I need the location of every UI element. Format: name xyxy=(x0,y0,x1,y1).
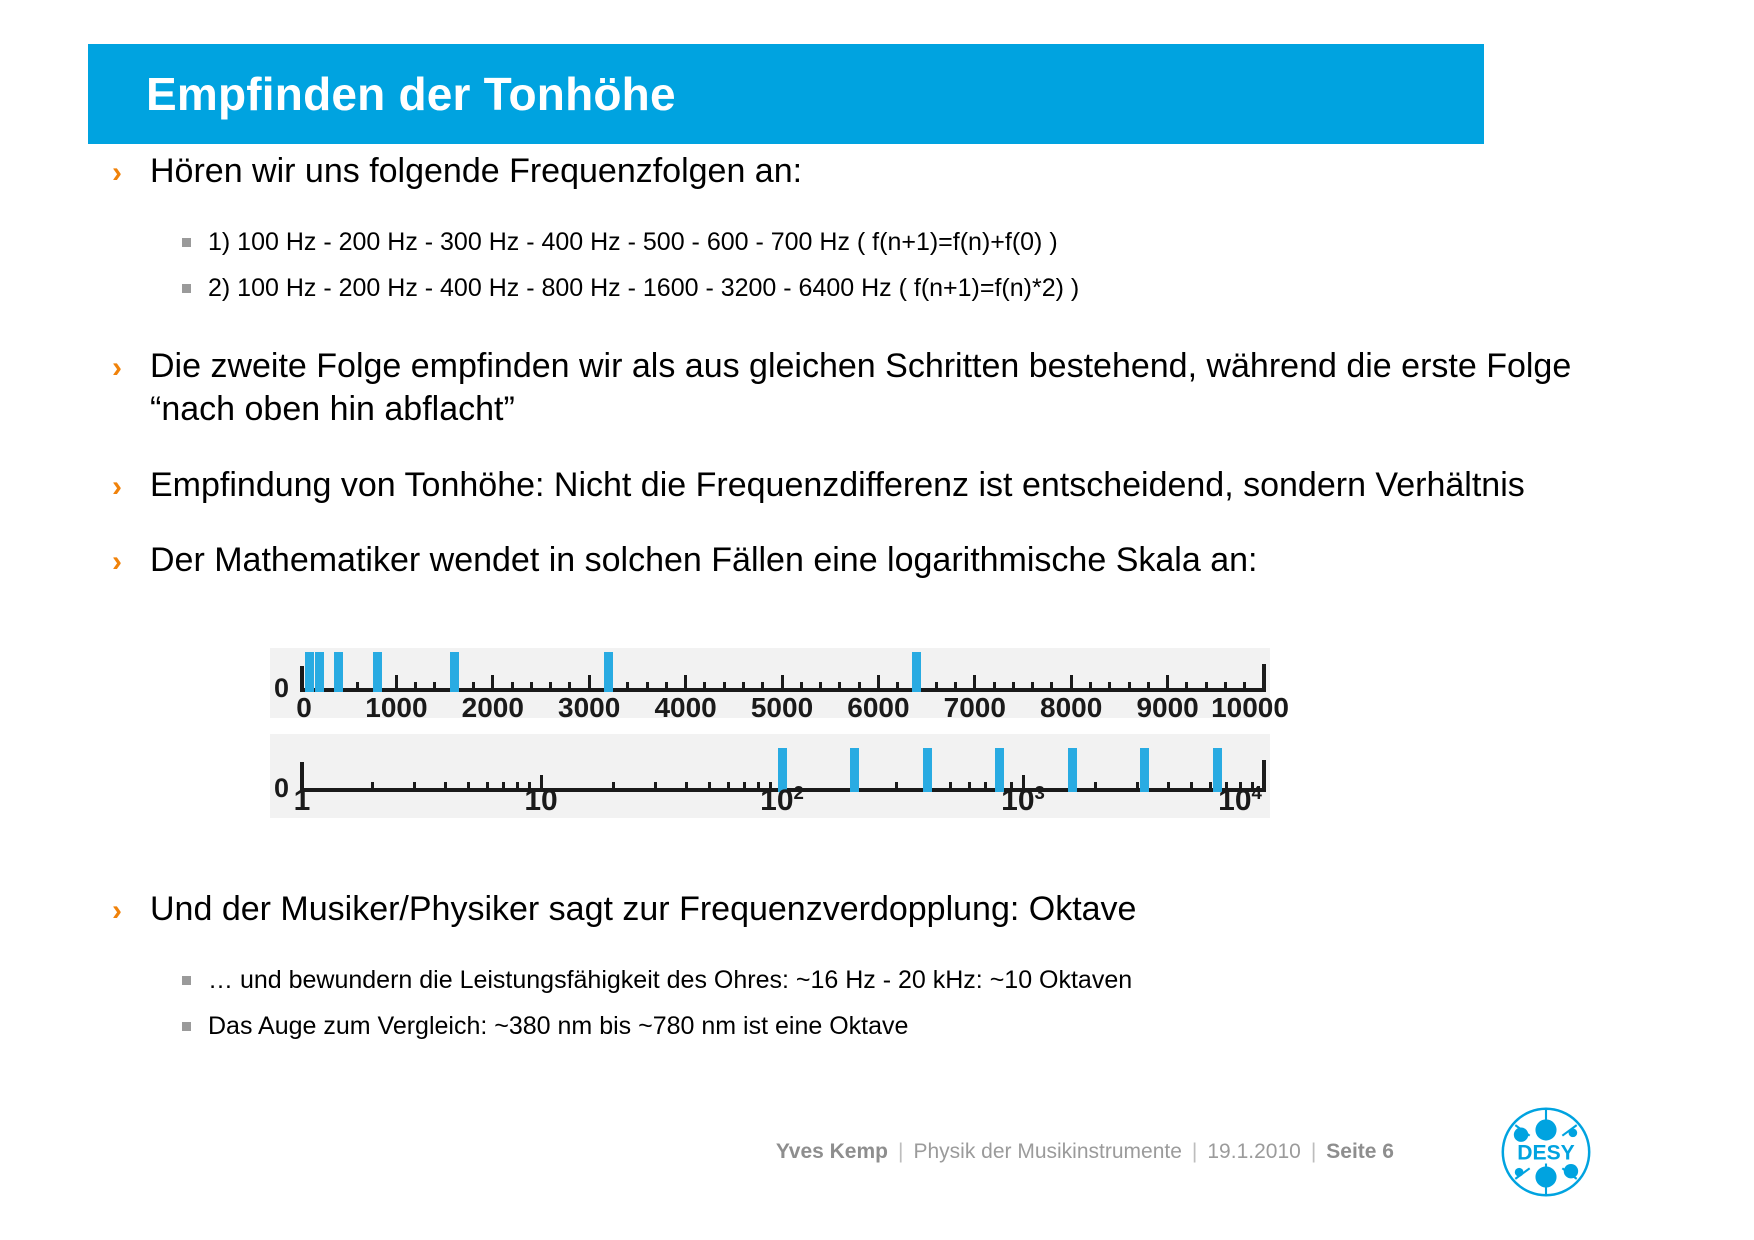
axis-tick-minor xyxy=(935,682,938,692)
spacer xyxy=(0,521,1754,539)
frequency-scale-figures: 0 01000200030004000500060007000800090001… xyxy=(270,648,1270,834)
axis-tick-major xyxy=(781,675,784,692)
frequency-bar xyxy=(334,652,343,692)
square-bullet-icon xyxy=(182,238,191,247)
axis-tick-minor xyxy=(516,782,519,792)
axis-tick-minor xyxy=(984,782,987,792)
axis-tick-minor xyxy=(1167,782,1170,792)
bullet-text: 1) 100 Hz - 200 Hz - 300 Hz - 400 Hz - 5… xyxy=(208,228,1058,256)
axis-tick-minor xyxy=(444,782,447,792)
axis-cap-right xyxy=(1262,664,1266,692)
axis-tick-minor xyxy=(1243,682,1246,692)
axis-tick-major xyxy=(1070,675,1073,692)
axis-tick-minor xyxy=(472,682,475,692)
frequency-bar xyxy=(923,748,932,792)
axis-tick-minor xyxy=(800,682,803,692)
axis-tick-label: 1000 xyxy=(365,694,427,722)
bullet-text: 2) 100 Hz - 200 Hz - 400 Hz - 800 Hz - 1… xyxy=(208,274,1079,302)
bullet-level2: … und bewundern die Leistungsfähigkeit d… xyxy=(0,964,1754,997)
axis-tick-label: 0 xyxy=(296,694,312,722)
axis-tick-minor xyxy=(819,682,822,692)
logarithmic-frequency-scale-chart: 0 110102103104 xyxy=(270,734,1270,818)
axis-tick-minor xyxy=(723,682,726,692)
axis-tick-label: 8000 xyxy=(1040,694,1102,722)
axis-tick-minor xyxy=(530,682,533,692)
axis-tick-minor xyxy=(949,782,952,792)
chevron-bullet-icon: › xyxy=(112,543,122,581)
desy-logo-icon: DESY xyxy=(1498,1104,1594,1200)
axis-tick-label: 10 xyxy=(524,786,557,816)
chevron-bullet-icon: › xyxy=(112,154,122,192)
axis-tick-minor xyxy=(511,682,514,692)
page-title: Empfinden der Tonhöhe xyxy=(146,67,676,121)
axis-tick-minor xyxy=(433,682,436,692)
chevron-bullet-icon: › xyxy=(112,892,122,930)
frequency-bar xyxy=(1068,748,1077,792)
axis-tick-minor xyxy=(1209,782,1212,792)
footer-separator: | xyxy=(888,1140,913,1163)
axis-tick-minor xyxy=(1108,682,1111,692)
axis-tick-minor xyxy=(1050,682,1053,692)
axis-cap-left xyxy=(300,666,304,692)
axis-tick-minor xyxy=(708,782,711,792)
frequency-bar xyxy=(305,652,314,692)
axis-tick-label: 2000 xyxy=(462,694,524,722)
axis-tick-minor xyxy=(467,782,470,792)
axis-tick-minor xyxy=(1094,782,1097,792)
axis-tick-minor xyxy=(761,682,764,692)
bullet-text: Das Auge zum Vergleich: ~380 nm bis ~780… xyxy=(208,1012,908,1040)
axis-tick-label: 4000 xyxy=(654,694,716,722)
axis-tick-minor xyxy=(1089,682,1092,692)
axis-tick-minor xyxy=(703,682,706,692)
axis-tick-major xyxy=(877,675,880,692)
frequency-bar xyxy=(373,652,382,692)
axis-tick-minor xyxy=(1128,682,1131,692)
axis-tick-minor xyxy=(743,782,746,792)
svg-text:DESY: DESY xyxy=(1517,1142,1574,1165)
axis-tick-minor xyxy=(1136,782,1139,792)
slide-body-lower: › Und der Musiker/Physiker sagt zur Freq… xyxy=(0,888,1754,1057)
bullet-level1: › Der Mathematiker wendet in solchen Fäl… xyxy=(0,539,1754,583)
footer-author: Yves Kemp xyxy=(776,1140,888,1163)
axis-tick-minor xyxy=(727,782,730,792)
bullet-level2: 1) 100 Hz - 200 Hz - 300 Hz - 400 Hz - 5… xyxy=(0,226,1754,259)
axis-tick-major xyxy=(1166,675,1169,692)
square-bullet-icon xyxy=(182,284,191,293)
footer-topic: Physik der Musikinstrumente xyxy=(913,1140,1181,1163)
axis-tick-minor xyxy=(1147,682,1150,692)
axis-tick-minor xyxy=(895,782,898,792)
axis-tick-label: 5000 xyxy=(751,694,813,722)
bullet-text: Empfindung von Tonhöhe: Nicht die Freque… xyxy=(150,464,1574,508)
axis-tick-minor xyxy=(1190,782,1193,792)
axis-tick-minor xyxy=(954,682,957,692)
axis-tick-major xyxy=(973,675,976,692)
footer-page-number: Seite 6 xyxy=(1326,1140,1394,1163)
axis-tick-minor xyxy=(665,682,668,692)
axis-tick-minor xyxy=(413,782,416,792)
axis-tick-minor xyxy=(612,782,615,792)
axis-tick-minor xyxy=(626,682,629,692)
bullet-level1: › Und der Musiker/Physiker sagt zur Freq… xyxy=(0,888,1754,932)
axis-tick-minor xyxy=(486,782,489,792)
axis-tick-minor xyxy=(858,682,861,692)
footer-meta: Yves Kemp|Physik der Musikinstrumente|19… xyxy=(776,1140,1394,1164)
slide-footer: Yves Kemp|Physik der Musikinstrumente|19… xyxy=(0,1122,1754,1182)
bullet-text: Hören wir uns folgende Frequenzfolgen an… xyxy=(150,150,1574,194)
axis-tick-minor xyxy=(1031,682,1034,692)
bullet-level2: 2) 100 Hz - 200 Hz - 400 Hz - 800 Hz - 1… xyxy=(0,272,1754,305)
axis-cap-right xyxy=(1262,760,1266,792)
axis-tick-minor xyxy=(1185,682,1188,692)
chevron-bullet-icon: › xyxy=(112,468,122,506)
axis-tick-minor xyxy=(502,782,505,792)
bullet-level1: › Empfindung von Tonhöhe: Nicht die Freq… xyxy=(0,464,1754,508)
axis-tick-label: 3000 xyxy=(558,694,620,722)
axis-tick-minor xyxy=(356,682,359,692)
axis-tick-minor xyxy=(993,682,996,692)
frequency-bar xyxy=(1140,748,1149,792)
footer-separator: | xyxy=(1301,1140,1326,1163)
axis-tick-minor xyxy=(371,782,374,792)
axis-tick-minor xyxy=(685,782,688,792)
bullet-level1: › Die zweite Folge empfinden wir als aus… xyxy=(0,345,1754,432)
footer-date: 19.1.2010 xyxy=(1207,1140,1300,1163)
frequency-bar xyxy=(604,652,613,692)
frequency-bar xyxy=(315,652,324,692)
axis-tick-label: 9000 xyxy=(1136,694,1198,722)
axis-tick-minor xyxy=(742,682,745,692)
bullet-text: Und der Musiker/Physiker sagt zur Freque… xyxy=(150,888,1574,932)
bullet-level2: Das Auge zum Vergleich: ~380 nm bis ~780… xyxy=(0,1010,1754,1043)
axis-tick-label: 7000 xyxy=(944,694,1006,722)
spacer xyxy=(0,446,1754,464)
axis-tick-major xyxy=(684,675,687,692)
axis-tick-label: 10000 xyxy=(1211,694,1289,722)
axis-tick-label: 104 xyxy=(1218,784,1262,816)
axis-zero-label: 0 xyxy=(274,675,289,702)
axis-tick-minor xyxy=(1224,682,1227,692)
axis-tick-minor xyxy=(414,682,417,692)
bullet-text: Die zweite Folge empfinden wir als aus g… xyxy=(150,345,1574,432)
axis-tick-minor xyxy=(646,682,649,692)
chevron-bullet-icon: › xyxy=(112,349,122,387)
axis-tick-minor xyxy=(568,682,571,692)
slide-body: › Hören wir uns folgende Frequenzfolgen … xyxy=(0,150,1754,597)
axis-tick-label: 103 xyxy=(1001,784,1045,816)
axis-tick-minor xyxy=(1205,682,1208,692)
axis-zero-label: 0 xyxy=(274,775,289,802)
slide-title-banner: Empfinden der Tonhöhe xyxy=(88,44,1484,144)
square-bullet-icon xyxy=(182,1022,191,1031)
axis-tick-minor xyxy=(1012,682,1015,692)
frequency-bar xyxy=(912,652,921,692)
spacer xyxy=(0,946,1754,964)
frequency-bar xyxy=(450,652,459,692)
axis-tick-minor xyxy=(654,782,657,792)
frequency-bar xyxy=(850,748,859,792)
axis-tick-minor xyxy=(968,782,971,792)
spacer xyxy=(0,319,1754,345)
linear-frequency-scale-chart: 0 01000200030004000500060007000800090001… xyxy=(270,648,1270,718)
bullet-text: Der Mathematiker wendet in solchen Fälle… xyxy=(150,539,1574,583)
axis-tick-major xyxy=(491,675,494,692)
axis-tick-minor xyxy=(838,682,841,692)
bullet-level1: › Hören wir uns folgende Frequenzfolgen … xyxy=(0,150,1754,194)
axis-tick-major xyxy=(588,675,591,692)
spacer xyxy=(0,208,1754,226)
axis-tick-minor xyxy=(896,682,899,692)
footer-separator: | xyxy=(1182,1140,1207,1163)
axis-tick-label: 1 xyxy=(294,786,311,816)
axis-tick-label: 102 xyxy=(760,784,804,816)
axis-tick-major xyxy=(395,675,398,692)
axis-tick-minor xyxy=(549,682,552,692)
square-bullet-icon xyxy=(182,976,191,985)
axis-tick-label: 6000 xyxy=(847,694,909,722)
bullet-text: … und bewundern die Leistungsfähigkeit d… xyxy=(208,966,1132,994)
